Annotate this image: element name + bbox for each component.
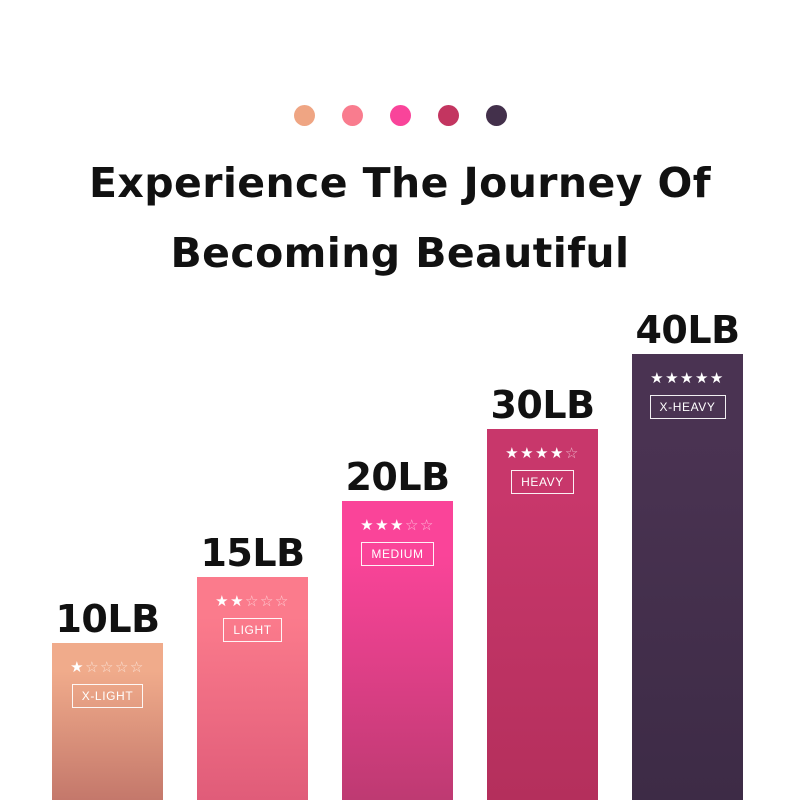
rating-stars-icon: ★★★★★ [650, 371, 725, 386]
star-filled-icon: ★ [520, 444, 535, 462]
star-empty-icon: ☆ [115, 658, 130, 676]
rating-stars-icon: ★☆☆☆☆ [70, 660, 145, 675]
star-filled-icon: ★ [390, 516, 405, 534]
rating-stars-icon: ★★☆☆☆ [215, 594, 290, 609]
bar-group-x-heavy[interactable]: 40LB★★★★★X-HEAVY [632, 308, 743, 800]
bar-content: ★★★★☆HEAVY [487, 429, 598, 494]
star-filled-icon: ★ [535, 444, 550, 462]
star-empty-icon: ☆ [420, 516, 435, 534]
bar-group-heavy[interactable]: 30LB★★★★☆HEAVY [487, 383, 598, 800]
bar-column[interactable]: ★★★★★X-HEAVY [632, 354, 743, 800]
bar-weight-label: 20LB [342, 455, 453, 499]
rating-stars-icon: ★★★☆☆ [360, 518, 435, 533]
rating-stars-icon: ★★★★☆ [505, 446, 580, 461]
star-empty-icon: ☆ [565, 444, 580, 462]
star-filled-icon: ★ [665, 369, 680, 387]
star-empty-icon: ☆ [100, 658, 115, 676]
bar-content: ★★☆☆☆LIGHT [197, 577, 308, 642]
bar-content: ★★★★★X-HEAVY [632, 354, 743, 419]
bar-group-x-light[interactable]: 10LB★☆☆☆☆X-LIGHT [52, 597, 163, 800]
star-empty-icon: ☆ [130, 658, 145, 676]
resistance-level-badge: HEAVY [511, 470, 574, 494]
resistance-level-badge: LIGHT [223, 618, 281, 642]
bar-column[interactable]: ★★☆☆☆LIGHT [197, 577, 308, 800]
star-empty-icon: ☆ [260, 592, 275, 610]
bar-column[interactable]: ★★★★☆HEAVY [487, 429, 598, 800]
product-infographic-page: Experience The Journey Of Becoming Beaut… [0, 0, 800, 800]
bar-content: ★☆☆☆☆X-LIGHT [52, 643, 163, 708]
star-filled-icon: ★ [375, 516, 390, 534]
resistance-level-badge: X-HEAVY [650, 395, 726, 419]
bar-weight-label: 40LB [632, 308, 743, 352]
bar-column[interactable]: ★☆☆☆☆X-LIGHT [52, 643, 163, 800]
star-filled-icon: ★ [650, 369, 665, 387]
star-empty-icon: ☆ [405, 516, 420, 534]
star-empty-icon: ☆ [245, 592, 260, 610]
bar-content: ★★★☆☆MEDIUM [342, 501, 453, 566]
star-empty-icon: ☆ [85, 658, 100, 676]
bar-weight-label: 30LB [487, 383, 598, 427]
bar-weight-label: 10LB [52, 597, 163, 641]
bar-column[interactable]: ★★★☆☆MEDIUM [342, 501, 453, 800]
star-filled-icon: ★ [710, 369, 725, 387]
star-empty-icon: ☆ [275, 592, 290, 610]
star-filled-icon: ★ [70, 658, 85, 676]
resistance-level-badge: MEDIUM [361, 542, 433, 566]
star-filled-icon: ★ [505, 444, 520, 462]
star-filled-icon: ★ [680, 369, 695, 387]
resistance-level-badge: X-LIGHT [72, 684, 144, 708]
star-filled-icon: ★ [695, 369, 710, 387]
star-filled-icon: ★ [360, 516, 375, 534]
bar-group-light[interactable]: 15LB★★☆☆☆LIGHT [197, 531, 308, 800]
resistance-band-bar-chart: 10LB★☆☆☆☆X-LIGHT15LB★★☆☆☆LIGHT20LB★★★☆☆M… [0, 0, 800, 800]
star-filled-icon: ★ [230, 592, 245, 610]
bar-weight-label: 15LB [197, 531, 308, 575]
bar-group-medium[interactable]: 20LB★★★☆☆MEDIUM [342, 455, 453, 800]
star-filled-icon: ★ [215, 592, 230, 610]
star-filled-icon: ★ [550, 444, 565, 462]
